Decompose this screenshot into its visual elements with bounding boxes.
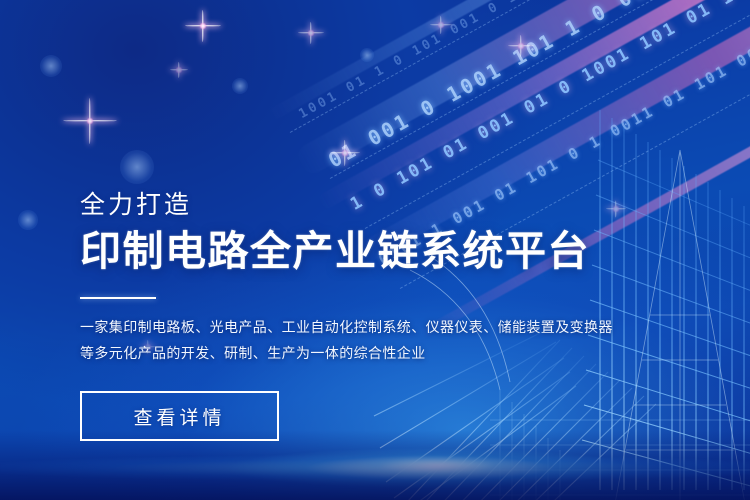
- star-sparkle-icon: [170, 62, 188, 78]
- hero-content: 全力打造 印制电路全产业链系统平台 一家集印制电路板、光电产品、工业自动化控制系…: [80, 190, 600, 441]
- hero-headline: 印制电路全产业链系统平台: [80, 227, 600, 275]
- bokeh-dot: [360, 48, 374, 62]
- bokeh-dot: [120, 150, 154, 184]
- star-sparkle-icon: [63, 98, 117, 144]
- hero-description-line-1: 一家集印制电路板、光电产品、工业自动化控制系统、仪器仪表、储能装置及变换器: [80, 314, 600, 340]
- star-sparkle-icon: [430, 16, 452, 34]
- hero-description-line-2: 等多元化产品的开发、研制、生产为一体的综合性企业: [80, 340, 600, 366]
- hero-divider: [80, 297, 156, 299]
- bokeh-dot: [18, 210, 38, 230]
- hero-description: 一家集印制电路板、光电产品、工业自动化控制系统、仪器仪表、储能装置及变换器 等多…: [80, 314, 600, 366]
- star-sparkle-icon: [508, 35, 534, 57]
- star-sparkle-icon: [298, 22, 324, 44]
- hero-eyebrow: 全力打造: [80, 190, 600, 220]
- star-sparkle-icon: [185, 10, 221, 42]
- view-details-button[interactable]: 查看详情: [80, 391, 279, 441]
- hero-banner: 1001 01 1 0 101 001 0 1 1010 01 001 101 …: [0, 0, 750, 500]
- bokeh-dot: [40, 55, 62, 77]
- bokeh-dot: [232, 78, 248, 94]
